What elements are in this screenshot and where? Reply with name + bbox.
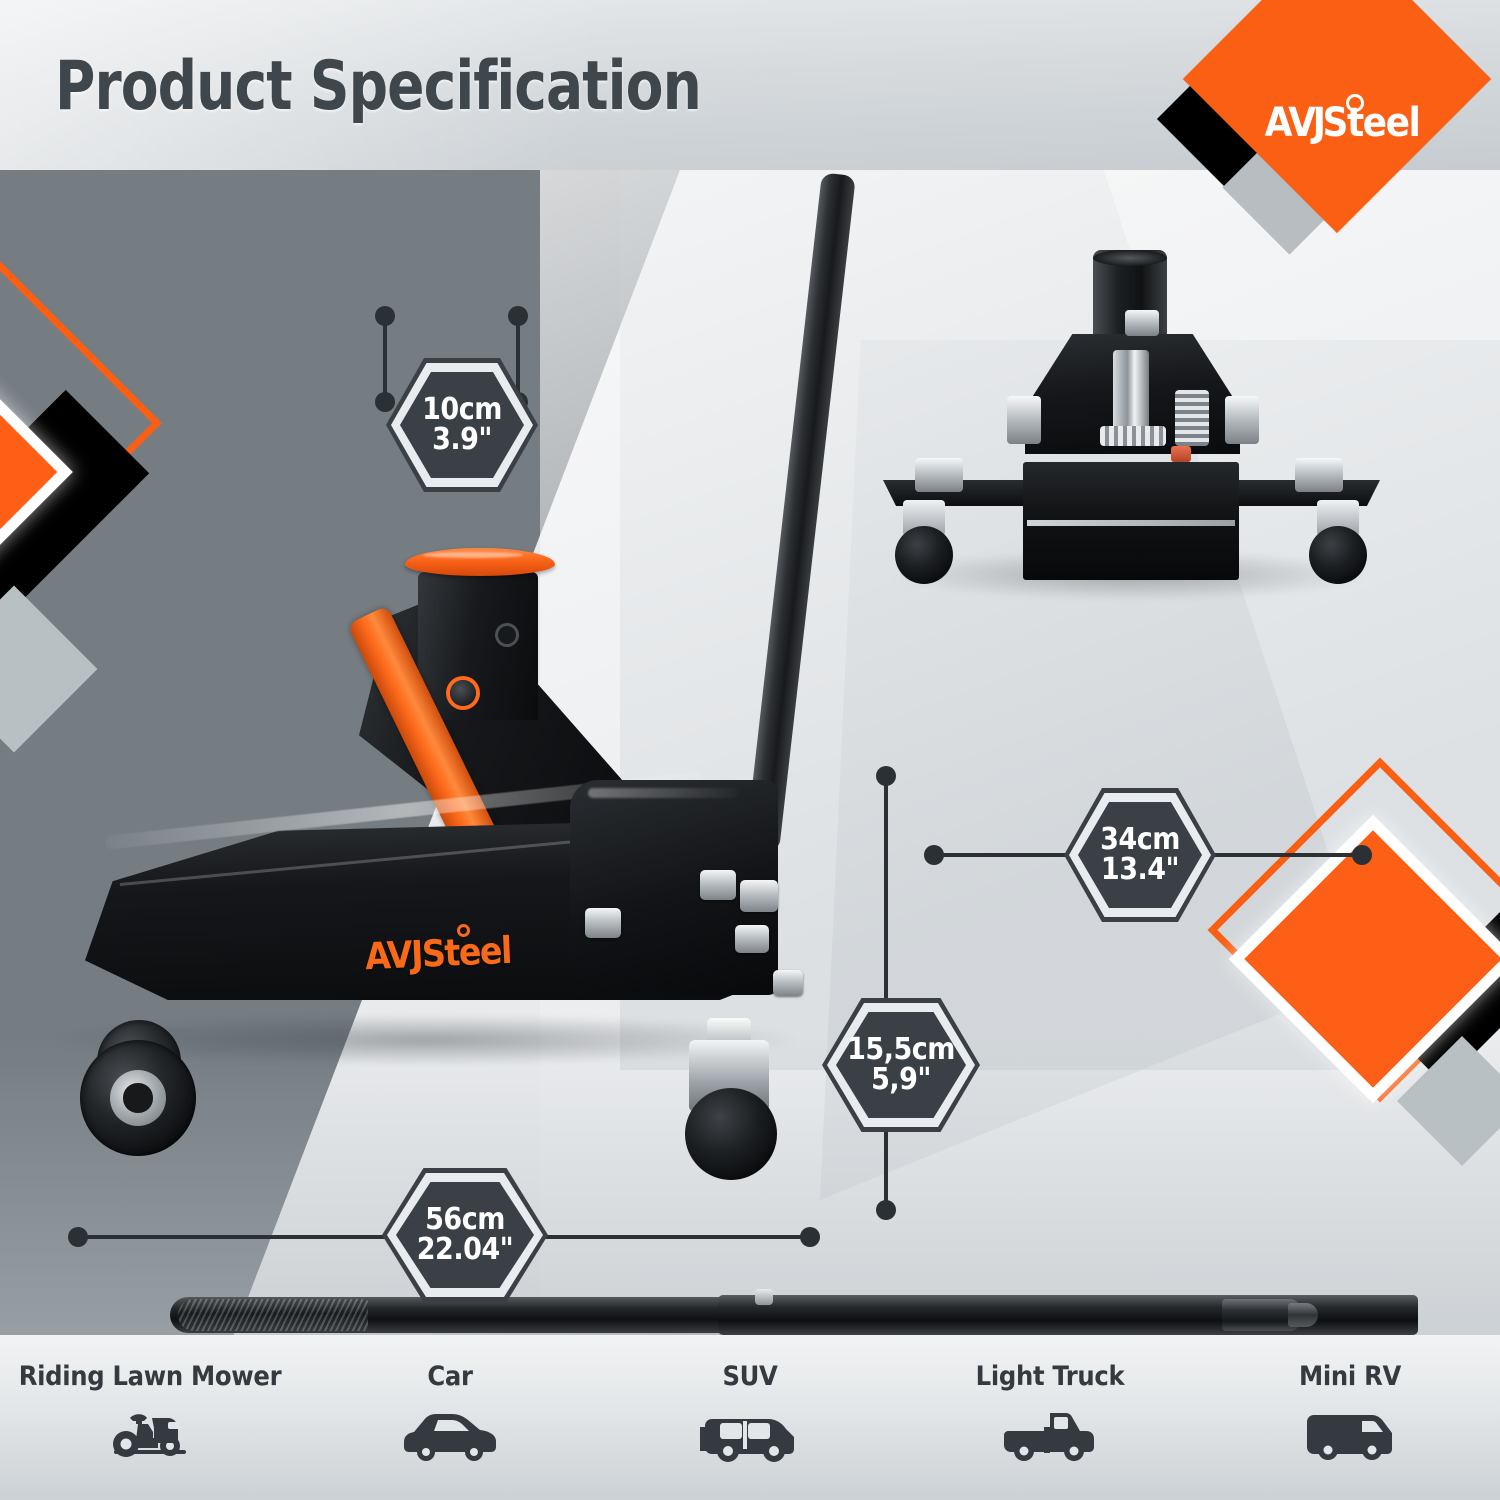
front-bolt xyxy=(1007,396,1041,444)
vehicle-label: Light Truck xyxy=(900,1361,1200,1392)
front-return-spring xyxy=(1175,390,1209,446)
caster-tyre xyxy=(895,526,953,584)
dim-metric-value: 56cm xyxy=(425,1205,505,1235)
vehicle-label: Car xyxy=(300,1361,600,1392)
jack-handle-shaft xyxy=(745,172,856,851)
dim-line-34cm-right xyxy=(1198,853,1362,857)
jack-decal-av: AV xyxy=(364,933,412,978)
van-icon xyxy=(1200,1402,1500,1468)
floor-jack-front-view xyxy=(875,250,1385,630)
vehicle-type-riding-lawn-mower: Riding Lawn Mower xyxy=(0,1335,300,1468)
vehicle-type-light-truck: Light Truck xyxy=(900,1335,1200,1468)
vehicle-label: Riding Lawn Mower xyxy=(0,1361,300,1392)
dimension-callout-min-height: 15,5cm 5,9" xyxy=(836,1012,966,1118)
dim-dot-10cm-right xyxy=(508,306,528,326)
dimension-callout-chassis-width: 34cm 13.4" xyxy=(1078,802,1202,908)
dim-imperial-value: 5,9" xyxy=(871,1065,931,1095)
front-caster-right xyxy=(1307,500,1369,580)
dim-dot-155cm-bottom xyxy=(876,1200,896,1220)
dim-line-155cm-top xyxy=(884,776,888,1016)
floor-jack-side-view: AVJSteel xyxy=(45,180,855,1200)
jack-saddle-pad xyxy=(405,548,555,576)
dim-dot-34cm-right xyxy=(1352,845,1372,865)
vehicle-type-mini-rv: Mini RV xyxy=(1200,1335,1500,1468)
jack-bolt xyxy=(735,925,769,953)
front-release-valve xyxy=(1171,446,1191,462)
logo-text-av: AV xyxy=(1265,100,1315,146)
dim-imperial-value: 22.04" xyxy=(417,1235,513,1265)
dim-metric-value: 34cm xyxy=(1100,825,1180,855)
jack-front-caster xyxy=(675,1040,785,1170)
vehicle-compatibility-bar: Riding Lawn Mower Car xyxy=(0,1335,1500,1500)
vehicle-label: SUV xyxy=(600,1361,900,1392)
dim-line-10cm-left xyxy=(383,316,387,402)
dim-dot-56cm-right xyxy=(800,1227,820,1247)
lawn-mower-icon xyxy=(0,1402,300,1468)
vehicle-label: Mini RV xyxy=(1200,1361,1500,1392)
jack-bolt xyxy=(700,870,736,900)
dim-dot-56cm-left xyxy=(68,1227,88,1247)
dim-metric-value: 15,5cm xyxy=(847,1035,955,1065)
jack-bolt xyxy=(773,970,803,996)
dim-metric-value: 10cm xyxy=(422,395,502,425)
page-title: Product Specification xyxy=(55,47,701,126)
product-stage: AVJSteel xyxy=(0,170,1500,1335)
jack-lift-post xyxy=(418,572,538,720)
suv-icon xyxy=(600,1402,900,1468)
logo-text-steel: Steel xyxy=(1323,100,1420,146)
dim-line-34cm-left xyxy=(934,853,1082,857)
front-gear-detail xyxy=(1100,426,1166,446)
dim-dot-10cm-left xyxy=(375,306,395,326)
front-chassis-rib xyxy=(1027,520,1235,526)
jack-post-hole xyxy=(495,623,519,647)
product-specification-infographic: Product Specification AVJSteel xyxy=(0,0,1500,1500)
dim-imperial-value: 13.4" xyxy=(1101,855,1179,885)
handle-bar-joint-pin xyxy=(755,1289,773,1305)
dim-dot-34cm-left xyxy=(924,845,944,865)
dim-line-56cm-left xyxy=(78,1235,400,1239)
handle-bar-end-cap xyxy=(1288,1303,1318,1327)
vehicle-type-suv: SUV xyxy=(600,1335,900,1468)
dimension-callout-saddle-width: 10cm 3.9" xyxy=(400,372,524,478)
jack-rear-wheel xyxy=(80,1040,196,1156)
dim-imperial-value: 3.9" xyxy=(432,425,492,455)
jack-arm-pivot-bolt xyxy=(450,680,476,706)
dim-line-56cm-right xyxy=(530,1235,810,1239)
caster-tyre xyxy=(1309,526,1367,584)
handle-bar-knurled-grip xyxy=(178,1299,368,1331)
handle-bar-assembly xyxy=(170,1275,1315,1335)
front-bolt xyxy=(915,458,963,492)
front-bolt xyxy=(1125,310,1159,336)
jack-bolt xyxy=(740,880,778,912)
vehicle-type-car: Car xyxy=(300,1335,600,1468)
brand-logo: AVJSteel xyxy=(1160,0,1500,292)
logo-wordmark: AVJSteel xyxy=(1242,100,1442,146)
logo-dot-accent xyxy=(1346,94,1364,112)
caster-tyre xyxy=(685,1088,777,1180)
dimension-callout-body-length: 56cm 22.04" xyxy=(396,1182,534,1288)
wheel-hub xyxy=(110,1070,166,1126)
car-icon xyxy=(300,1402,600,1468)
front-hydraulic-cylinder xyxy=(1113,350,1149,438)
front-caster-left xyxy=(893,500,955,580)
dim-dot-155cm-top xyxy=(876,766,896,786)
front-bolt xyxy=(1295,458,1343,492)
pickup-truck-icon xyxy=(900,1402,1200,1468)
dim-dot-10cm-bottom-left xyxy=(375,392,395,412)
front-bolt xyxy=(1225,396,1259,444)
